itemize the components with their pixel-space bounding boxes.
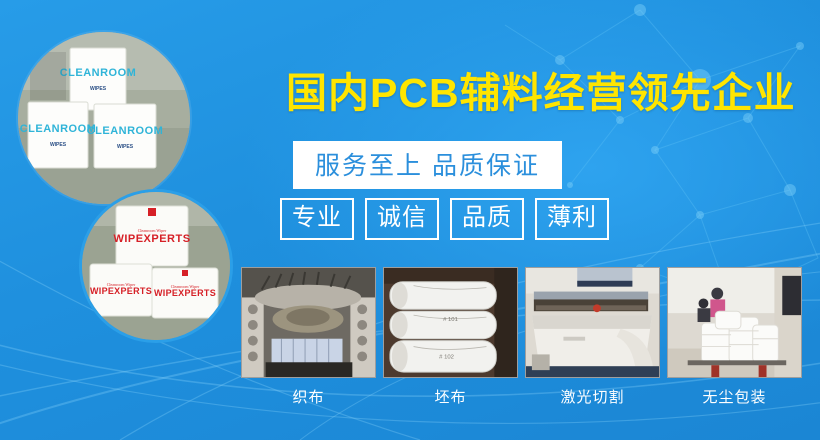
process-caption-laser-cutting: 激光切割	[525, 386, 660, 407]
product-photo-wipexperts-circle: WIPEXPERTS WIPEXPERTS WIPEXPERTS Cleanro…	[82, 192, 230, 340]
process-caption-weaving: 织布	[241, 386, 376, 407]
process-item-cleanroom-packing: 无尘包装	[667, 267, 802, 407]
process-thumbnail-list: 织布	[241, 267, 802, 407]
page-title: 国内PCB辅料经营领先企业	[286, 72, 796, 115]
laser-cutting-machine-photo	[525, 267, 660, 378]
svg-text:WIPEXPERTS: WIPEXPERTS	[154, 288, 216, 298]
process-item-greige-fabric: # 101# 102 坯布	[383, 267, 518, 407]
svg-text:Cleanroom Wiper: Cleanroom Wiper	[138, 228, 167, 233]
svg-text:# 101: # 101	[443, 317, 458, 323]
knitting-machine-photo	[241, 267, 376, 378]
svg-text:CLEANROOM: CLEANROOM	[87, 125, 164, 137]
feature-tag-professional: 专业	[280, 198, 354, 240]
svg-text:CLEANROOM: CLEANROOM	[60, 67, 137, 79]
svg-text:# 102: # 102	[439, 354, 454, 360]
svg-text:WIPEXPERTS: WIPEXPERTS	[90, 286, 152, 296]
subtitle-banner: 服务至上 品质保证	[293, 141, 562, 189]
svg-text:WIPES: WIPES	[90, 86, 107, 92]
promo-banner: CLEANROOM CLEANROOM CLEANROOM WIPES WIPE…	[0, 0, 820, 440]
fabric-rolls-photo: # 101# 102	[383, 267, 518, 378]
feature-tag-quality: 品质	[450, 198, 524, 240]
product-photo-cleanroom-circle: CLEANROOM CLEANROOM CLEANROOM WIPES WIPE…	[18, 32, 190, 204]
process-caption-cleanroom-packing: 无尘包装	[667, 386, 802, 407]
svg-text:Cleanroom Wiper: Cleanroom Wiper	[171, 284, 200, 289]
feature-tag-integrity: 诚信	[365, 198, 439, 240]
process-item-laser-cutting: 激光切割	[525, 267, 660, 407]
svg-text:WIPEXPERTS: WIPEXPERTS	[113, 233, 190, 245]
svg-text:WIPES: WIPES	[117, 144, 134, 150]
cleanroom-packing-photo	[667, 267, 802, 378]
feature-tag-list: 专业 诚信 品质 薄利	[280, 198, 609, 240]
svg-text:CLEANROOM: CLEANROOM	[20, 123, 97, 135]
svg-text:WIPES: WIPES	[50, 142, 67, 148]
process-caption-greige-fabric: 坯布	[383, 386, 518, 407]
subtitle-text: 服务至上 品质保证	[315, 152, 540, 180]
process-item-weaving: 织布	[241, 267, 376, 407]
svg-text:Cleanroom Wiper: Cleanroom Wiper	[107, 282, 136, 287]
feature-tag-low-margin: 薄利	[535, 198, 609, 240]
